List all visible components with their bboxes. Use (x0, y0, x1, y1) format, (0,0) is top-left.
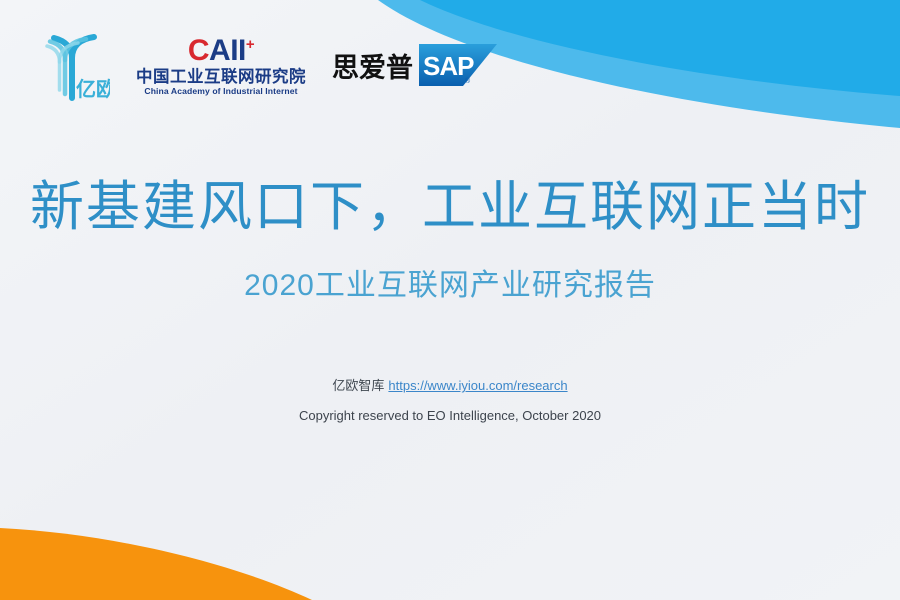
sap-registered-mark: ® (465, 77, 471, 85)
presentation-title-slide: 亿欧 CAII+ 中国工业互联网研究院 China Academy of Ind… (0, 0, 900, 600)
sap-name-cn: 思爱普 (332, 46, 413, 85)
eo-logo-wordmark: 亿欧 (76, 77, 110, 101)
sap-mark-icon: SAP ® (419, 44, 497, 86)
sub-title: 2020工业互联网产业研究报告 (0, 260, 900, 304)
copyright-line: Copyright reserved to EO Intelligence, O… (0, 408, 900, 423)
eo-logo-icon: 亿欧 (36, 28, 110, 102)
slide-content: 新基建风口下，工业互联网正当时 2020工业互联网产业研究报告 亿欧智库http… (0, 176, 900, 423)
caii-mark-aii: AII (209, 34, 246, 67)
caii-mark: CAII+ (188, 36, 254, 66)
credit-line: 亿欧智库https://www.iyiou.com/research (0, 376, 900, 396)
sap-mark-text: SAP (423, 51, 474, 81)
sap-mark: SAP ® (419, 44, 497, 86)
credit-org: 亿欧智库 (332, 378, 384, 393)
main-title: 新基建风口下，工业互联网正当时 (0, 176, 900, 238)
caii-logo: CAII+ 中国工业互联网研究院 China Academy of Indust… (136, 34, 306, 96)
caii-mark-c: C (188, 34, 209, 67)
credit-block: 亿欧智库https://www.iyiou.com/research Copyr… (0, 376, 900, 423)
sap-logo: 思爱普 SAP ® (332, 44, 497, 86)
eo-logo: 亿欧 (36, 28, 110, 102)
logo-bar: 亿欧 CAII+ 中国工业互联网研究院 China Academy of Ind… (36, 28, 497, 102)
research-url-link[interactable]: https://www.iyiou.com/research (388, 378, 567, 393)
caii-mark-plus: + (246, 36, 254, 53)
caii-name-en: China Academy of Industrial Internet (144, 87, 297, 96)
caii-name-cn: 中国工业互联网研究院 (136, 69, 306, 86)
